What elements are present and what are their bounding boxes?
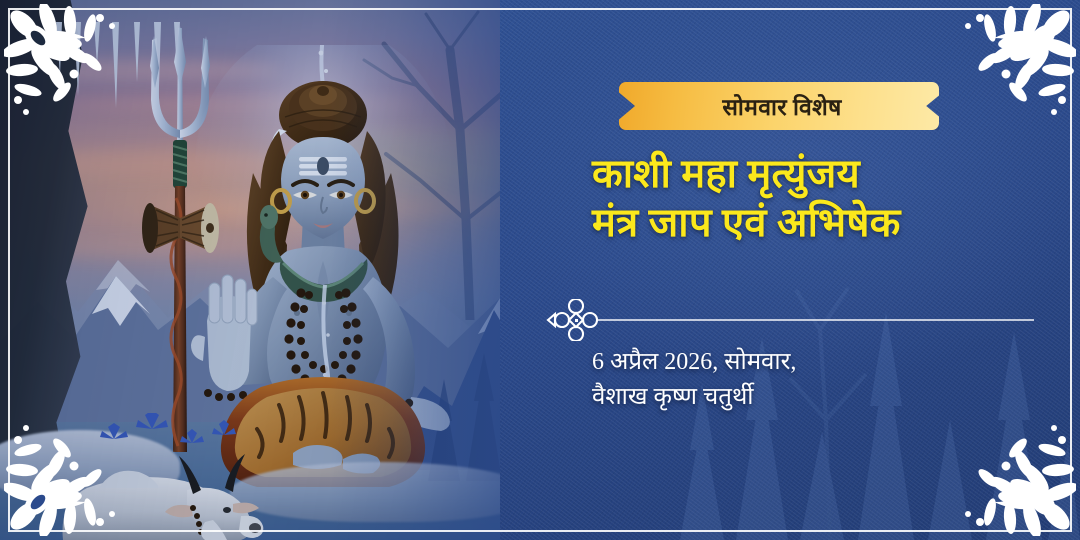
corner-ornament-bottom-right: [948, 408, 1076, 536]
corner-ornament-bottom-left: [4, 408, 132, 536]
title-line-2: मंत्र जाप एवं अभिषेक: [592, 199, 1044, 248]
special-badge: सोमवार विशेष: [619, 82, 939, 130]
badge-ribbon: सोमवार विशेष: [619, 82, 939, 130]
date-line-1: 6 अप्रैल 2026, सोमवार,: [592, 345, 1022, 380]
page-title: काशी महा मृत्युंजय मंत्र जाप एवं अभिषेक: [592, 150, 1044, 248]
ornamental-divider: [534, 299, 1034, 341]
corner-ornament-top-right: [948, 4, 1076, 132]
poster-root: सोमवार विशेष काशी महा मृत्युंजय मंत्र जा…: [0, 0, 1080, 540]
title-line-1: काशी महा मृत्युंजय: [592, 150, 1044, 199]
badge-label: सोमवार विशेष: [716, 90, 841, 122]
event-date: 6 अप्रैल 2026, सोमवार, वैशाख कृष्ण चतुर्…: [592, 345, 1022, 415]
corner-ornament-top-left: [4, 4, 132, 132]
